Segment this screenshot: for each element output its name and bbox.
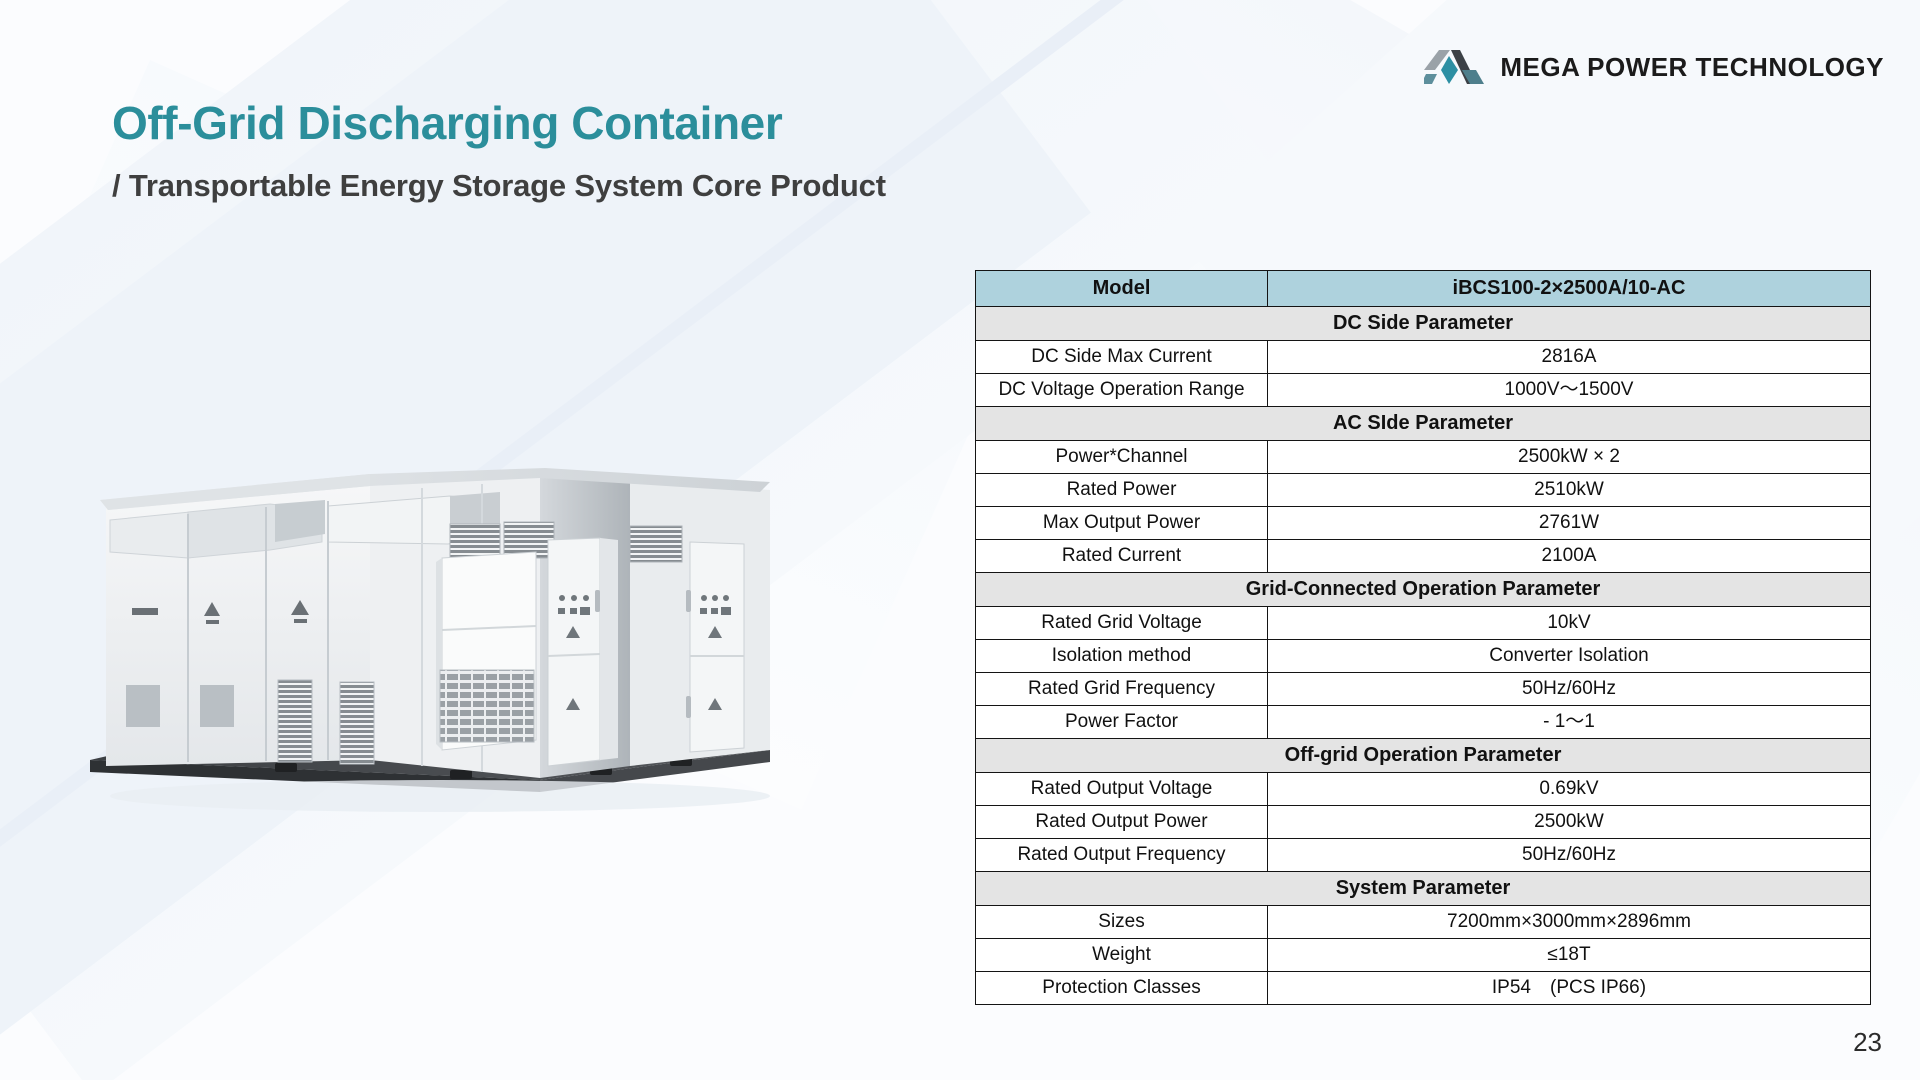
param-label: Power Factor	[976, 706, 1268, 739]
table-row: Rated Grid Frequency50Hz/60Hz	[976, 673, 1871, 706]
section-title: Grid-Connected Operation Parameter	[976, 573, 1871, 607]
param-label: Sizes	[976, 906, 1268, 939]
section-title: System Parameter	[976, 872, 1871, 906]
page-title: Off-Grid Discharging Container	[112, 96, 782, 150]
mega-power-mountain-mark-icon	[1424, 48, 1486, 86]
param-value: 2761W	[1268, 507, 1871, 540]
param-label: Rated Current	[976, 540, 1268, 573]
param-label: Weight	[976, 939, 1268, 972]
table-row: Sizes7200mm×3000mm×2896mm	[976, 906, 1871, 939]
param-value: 2500kW × 2	[1268, 441, 1871, 474]
param-label: DC Side Max Current	[976, 341, 1268, 374]
brand-logo-text: MEGA POWER TECHNOLOGY	[1500, 52, 1884, 83]
section-title: AC SIde Parameter	[976, 407, 1871, 441]
param-value: 50Hz/60Hz	[1268, 839, 1871, 872]
section-title: Off-grid Operation Parameter	[976, 739, 1871, 773]
param-value: 2100A	[1268, 540, 1871, 573]
param-value: 0.69kV	[1268, 773, 1871, 806]
table-row: Rated Output Voltage0.69kV	[976, 773, 1871, 806]
param-label: Protection Classes	[976, 972, 1268, 1005]
param-label: Rated Grid Frequency	[976, 673, 1268, 706]
section-title: DC Side Parameter	[976, 307, 1871, 341]
table-row: Rated Output Frequency50Hz/60Hz	[976, 839, 1871, 872]
param-value: 2510kW	[1268, 474, 1871, 507]
table-row-model: ModeliBCS100-2×2500A/10-AC	[976, 271, 1871, 307]
param-value: - 1～1	[1268, 706, 1871, 739]
slide-root: MEGA POWER TECHNOLOGY Off-Grid Dischargi…	[0, 0, 1920, 1080]
param-value: 2500kW	[1268, 806, 1871, 839]
table-row: Max Output Power2761W	[976, 507, 1871, 540]
page-subtitle: / Transportable Energy Storage System Co…	[112, 168, 886, 204]
param-value: 7200mm×3000mm×2896mm	[1268, 906, 1871, 939]
specification-table: ModeliBCS100-2×2500A/10-ACDC Side Parame…	[975, 270, 1871, 1005]
table-row: Rated Power2510kW	[976, 474, 1871, 507]
param-value: 10kV	[1268, 607, 1871, 640]
table-row: Rated Grid Voltage10kV	[976, 607, 1871, 640]
param-label: Power*Channel	[976, 441, 1268, 474]
table-row: Weight≤18T	[976, 939, 1871, 972]
page-number: 23	[1853, 1027, 1882, 1058]
table-row: Power Factor- 1～1	[976, 706, 1871, 739]
table-section-header: DC Side Parameter	[976, 307, 1871, 341]
param-label: Rated Power	[976, 474, 1268, 507]
param-label: Rated Grid Voltage	[976, 607, 1268, 640]
param-value: IP54 (PCS IP66)	[1268, 972, 1871, 1005]
table-row: Isolation methodConverter Isolation	[976, 640, 1871, 673]
param-value: Converter Isolation	[1268, 640, 1871, 673]
brand-logo: MEGA POWER TECHNOLOGY	[1424, 48, 1884, 86]
param-label: Isolation method	[976, 640, 1268, 673]
table-section-header: Grid-Connected Operation Parameter	[976, 573, 1871, 607]
table-row: DC Voltage Operation Range1000V～1500V	[976, 374, 1871, 407]
table-row: Protection ClassesIP54 (PCS IP66)	[976, 972, 1871, 1005]
param-value: ≤18T	[1268, 939, 1871, 972]
table-row: Power*Channel2500kW × 2	[976, 441, 1871, 474]
param-value: 2816A	[1268, 341, 1871, 374]
param-value: 1000V～1500V	[1268, 374, 1871, 407]
param-label: Rated Output Frequency	[976, 839, 1268, 872]
table-row: Rated Current2100A	[976, 540, 1871, 573]
model-value: iBCS100-2×2500A/10-AC	[1268, 271, 1871, 307]
table-section-header: AC SIde Parameter	[976, 407, 1871, 441]
param-label: Max Output Power	[976, 507, 1268, 540]
param-value: 50Hz/60Hz	[1268, 673, 1871, 706]
param-label: Rated Output Power	[976, 806, 1268, 839]
table-section-header: Off-grid Operation Parameter	[976, 739, 1871, 773]
model-label: Model	[976, 271, 1268, 307]
table-row: DC Side Max Current2816A	[976, 341, 1871, 374]
param-label: DC Voltage Operation Range	[976, 374, 1268, 407]
table-row: Rated Output Power2500kW	[976, 806, 1871, 839]
table-section-header: System Parameter	[976, 872, 1871, 906]
product-image	[70, 430, 900, 850]
param-label: Rated Output Voltage	[976, 773, 1268, 806]
